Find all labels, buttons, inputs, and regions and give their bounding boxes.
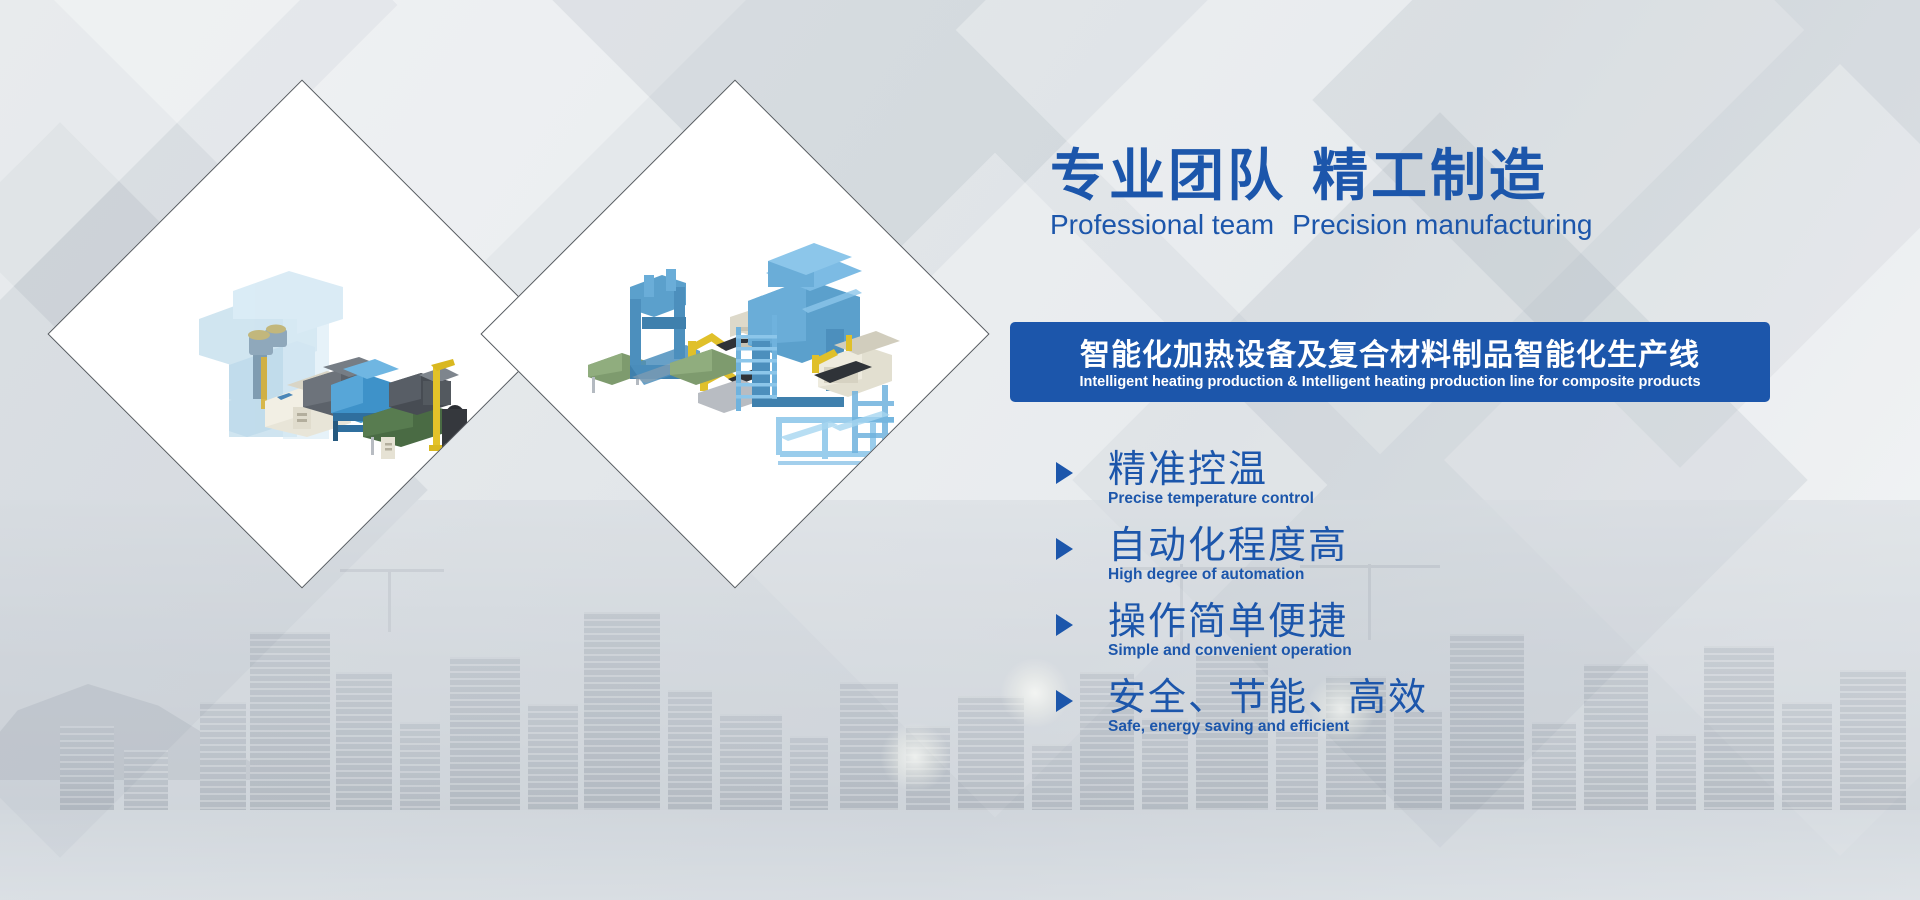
product-title-chinese: 智能化加热设备及复合材料制品智能化生产线 [1080, 339, 1700, 373]
feature-label-chinese: 自动化程度高 [1108, 524, 1650, 567]
feature-label-chinese: 操作简单便捷 [1108, 600, 1650, 643]
feature-item: 自动化程度高 High degree of automation [1050, 524, 1650, 584]
heating-production-line-illustration [137, 169, 467, 499]
headline-chinese: 专业团队精工制造 [1050, 148, 1592, 207]
triangle-right-icon [1056, 690, 1073, 712]
composite-press-line-illustration [570, 169, 900, 499]
product-title-english: Intelligent heating production & Intelli… [1079, 374, 1700, 391]
headline-en-part2: Precision manufacturing [1292, 209, 1592, 240]
feature-label-chinese: 安全、节能、高效 [1108, 676, 1650, 719]
triangle-right-icon [1056, 538, 1073, 560]
promotional-banner: 专业团队精工制造 Professional teamPrecision manu… [0, 0, 1920, 900]
headline-cn-part1: 专业团队 [1050, 144, 1286, 209]
feature-item: 安全、节能、高效 Safe, energy saving and efficie… [1050, 676, 1650, 736]
feature-label-english: Precise temperature control [1108, 490, 1650, 509]
text-content-column: 专业团队精工制造 Professional teamPrecision manu… [1040, 0, 1920, 900]
feature-item: 精准控温 Precise temperature control [1050, 448, 1650, 508]
triangle-right-icon [1056, 614, 1073, 636]
feature-label-english: High degree of automation [1108, 566, 1650, 585]
feature-label-english: Safe, energy saving and efficient [1108, 718, 1650, 737]
headline-block: 专业团队精工制造 Professional teamPrecision manu… [1050, 148, 1592, 241]
feature-list: 精准控温 Precise temperature control 自动化程度高 … [1050, 448, 1650, 737]
headline-english: Professional teamPrecision manufacturing [1050, 209, 1592, 241]
triangle-right-icon [1056, 462, 1073, 484]
feature-label-english: Simple and convenient operation [1108, 642, 1650, 661]
product-title-banner: 智能化加热设备及复合材料制品智能化生产线 Intelligent heating… [1010, 322, 1770, 402]
headline-en-part1: Professional team [1050, 209, 1274, 240]
feature-item: 操作简单便捷 Simple and convenient operation [1050, 600, 1650, 660]
headline-cn-part2: 精工制造 [1312, 144, 1548, 209]
feature-label-chinese: 精准控温 [1108, 448, 1650, 491]
